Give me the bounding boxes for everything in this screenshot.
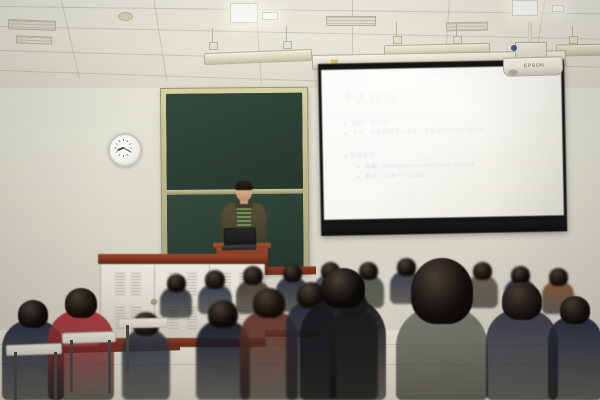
ceiling-light-panel [512, 0, 538, 16]
student-head [321, 268, 365, 308]
slide-bullet [357, 176, 359, 178]
ceiling-vent [8, 19, 56, 31]
student-head [560, 296, 590, 324]
chair-leg [54, 352, 57, 400]
student-body [548, 316, 600, 400]
student-head [243, 266, 263, 285]
slide-bullet [344, 123, 346, 125]
student-head [502, 282, 542, 320]
slide-line: 专业：计算机科学与技术（大数据分析与处理方向） [352, 126, 490, 137]
ceiling-vent [446, 22, 488, 32]
chair-leg [108, 340, 111, 394]
student-body [48, 310, 114, 400]
projection-screen: 个人介绍 姓名：张文轩 专业：计算机科学与技术（大数据分析与处理方向） 联系方式… [318, 59, 567, 236]
projector-lens-icon [508, 69, 518, 75]
student-long-hair [396, 258, 488, 400]
wall-clock [108, 133, 142, 167]
lecture-hall-photo: 个人介绍 姓名：张文轩 专业：计算机科学与技术（大数据分析与处理方向） 联系方式… [0, 0, 600, 400]
student-head [167, 274, 186, 292]
ceiling-light-panel [262, 12, 278, 20]
student-head [205, 270, 225, 289]
chair-leg [126, 325, 129, 371]
student-body [122, 329, 170, 400]
ceiling-light-panel [230, 3, 258, 23]
fluorescent-fixture [204, 49, 312, 65]
chair-leg [14, 352, 17, 400]
projector-brand-label: EPSON [524, 63, 545, 70]
clock-face [113, 138, 133, 158]
laptop-keyboard [222, 245, 256, 251]
student-head [65, 288, 97, 318]
student-far-right [548, 296, 600, 400]
projector-mount-knob [511, 45, 517, 51]
slide-surface: 个人介绍 姓名：张文轩 专业：计算机科学与技术（大数据分析与处理方向） 联系方式… [321, 65, 564, 220]
slide-bullet [357, 166, 359, 168]
chalkboard-panel-upper [166, 93, 303, 190]
student-black-puffer [300, 268, 386, 400]
student-body [300, 297, 386, 400]
ceiling-vent [16, 35, 52, 44]
slide-line: 联系方式： [351, 151, 381, 160]
cabinet-top-trim [98, 254, 267, 264]
ceiling-vent [326, 16, 376, 26]
cabinet-handle[interactable] [151, 299, 157, 305]
glasses-icon [237, 189, 251, 193]
student-head [411, 258, 473, 324]
slide-bullet [345, 155, 347, 157]
slide-bullet [344, 132, 346, 134]
student-head [253, 288, 285, 318]
slide-line: 姓名：张文轩 [352, 119, 388, 128]
clock-center-pin [122, 147, 124, 149]
student-head [18, 300, 48, 328]
student-head [208, 300, 238, 328]
projector-icon: EPSON [503, 56, 563, 77]
ceiling-light-panel [552, 5, 564, 12]
slide-title: 个人介绍 [341, 88, 397, 106]
chair-leg [70, 340, 73, 392]
smoke-detector-icon [118, 12, 133, 21]
slide-line: 电话：138****2580 [365, 171, 425, 180]
slide-line: 邮箱：zhangwenxuan@mail.edu.cn [365, 160, 475, 170]
